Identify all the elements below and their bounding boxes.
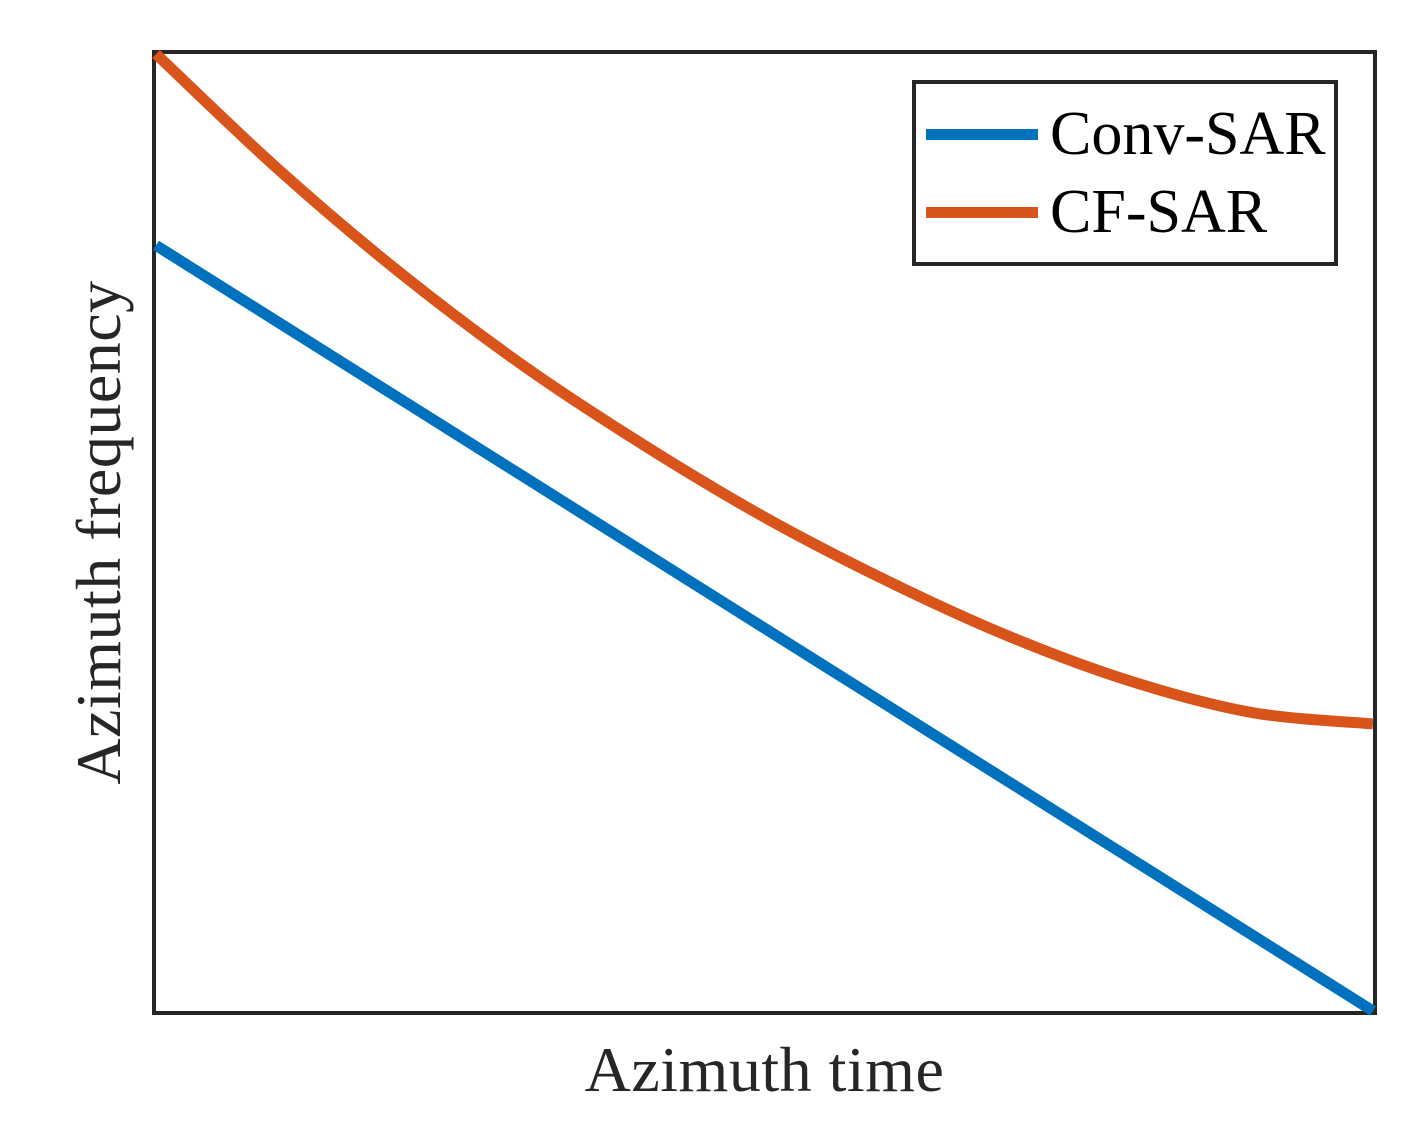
line-conv-sar	[156, 245, 1373, 1011]
legend-swatch-cf-sar	[926, 207, 1038, 218]
x-axis-label: Azimuth time	[152, 1038, 1377, 1102]
legend-swatch-conv-sar	[926, 129, 1038, 140]
legend-label-conv-sar: Conv-SAR	[1050, 103, 1326, 165]
figure-canvas: Azimuth frequency Azimuth time Conv-SAR …	[0, 0, 1408, 1133]
y-axis-label: Azimuth frequency	[44, 50, 154, 1015]
legend-item-conv-sar: Conv-SAR	[916, 95, 1334, 173]
legend-label-cf-sar: CF-SAR	[1050, 181, 1267, 243]
legend-item-cf-sar: CF-SAR	[916, 173, 1334, 251]
chart-legend: Conv-SAR CF-SAR	[912, 80, 1338, 266]
